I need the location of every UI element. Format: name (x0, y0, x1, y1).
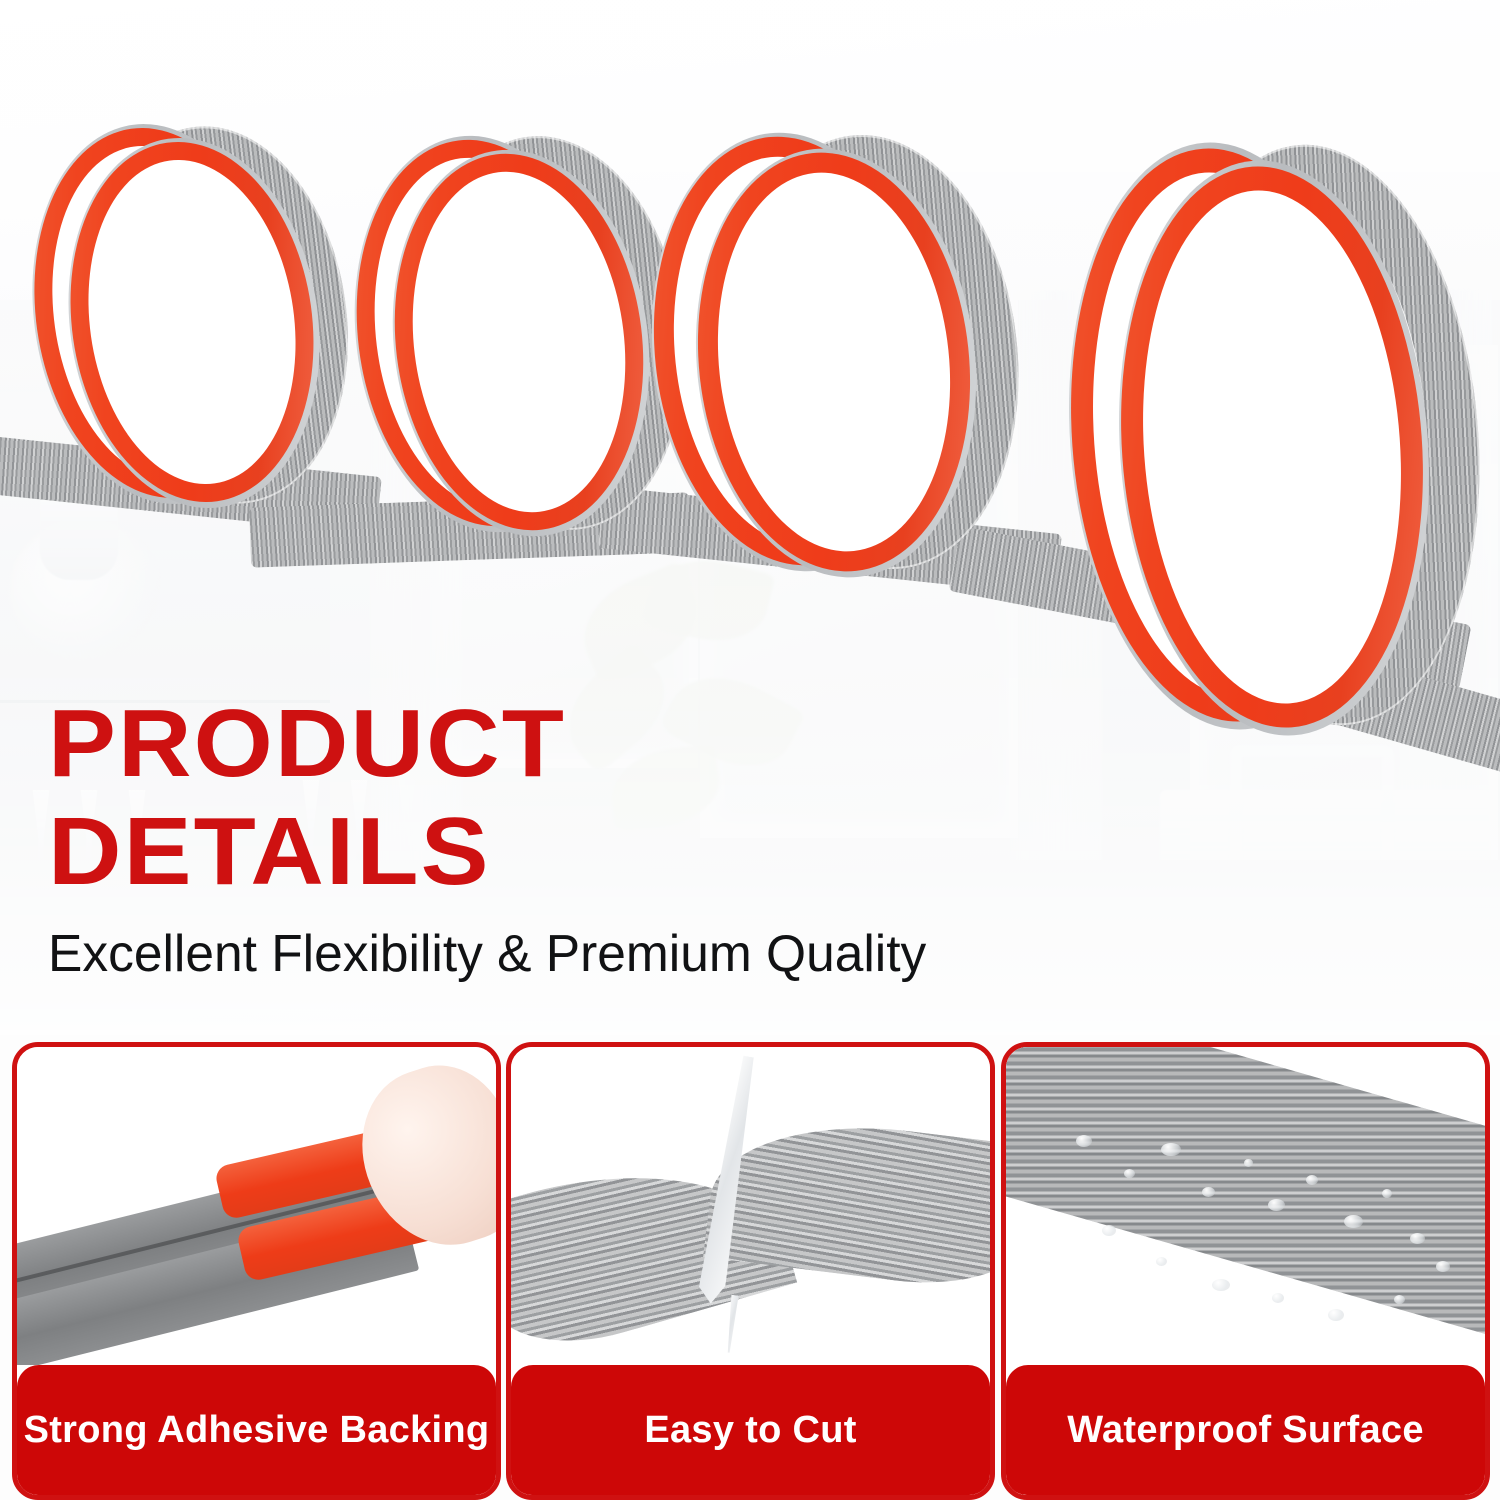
caption-label: Waterproof Surface (1067, 1409, 1424, 1452)
water-droplet (1156, 1257, 1167, 1266)
water-droplet (1344, 1215, 1363, 1228)
water-droplet (1212, 1279, 1230, 1291)
caption-label: Strong Adhesive Backing (24, 1409, 490, 1452)
water-droplet (1272, 1293, 1284, 1303)
water-droplet (1382, 1189, 1392, 1198)
tape-loop-1 (10, 115, 360, 515)
knife-tip (723, 1295, 741, 1354)
headline-line-1: PRODUCT (48, 690, 1246, 798)
headline-block: PRODUCT DETAILS Excellent Flexibility & … (48, 690, 1178, 984)
feature-caption-cut: Easy to Cut (511, 1365, 990, 1495)
water-droplet (1268, 1199, 1285, 1211)
feature-panel-cut[interactable]: Easy to Cut (506, 1042, 995, 1500)
headline-line-2: DETAILS (48, 798, 1246, 906)
water-droplet (1410, 1233, 1425, 1244)
feature-panel-row: Strong Adhesive Backing Easy to Cut (0, 1038, 1500, 1500)
water-droplet (1102, 1225, 1116, 1236)
product-detail-infographic: PRODUCT DETAILS Excellent Flexibility & … (0, 0, 1500, 1500)
water-droplet (1436, 1261, 1450, 1272)
water-droplet (1394, 1295, 1405, 1304)
water-droplet (1244, 1159, 1253, 1167)
tape-loop-3 (625, 120, 1025, 590)
adhesive-backing-photo (17, 1047, 496, 1365)
feature-caption-adhesive: Strong Adhesive Backing (17, 1365, 496, 1495)
caption-label: Easy to Cut (644, 1409, 856, 1452)
water-droplet (1306, 1175, 1318, 1185)
water-droplet (1202, 1187, 1215, 1197)
headline-subtitle: Excellent Flexibility & Premium Quality (48, 924, 1167, 984)
feature-panel-waterproof[interactable]: Waterproof Surface (1001, 1042, 1490, 1500)
waterproof-surface-photo (1006, 1047, 1485, 1365)
water-droplet (1328, 1309, 1344, 1321)
water-droplet (1076, 1135, 1092, 1147)
feature-panel-adhesive[interactable]: Strong Adhesive Backing (12, 1042, 501, 1500)
wet-grey-tape-surface (1006, 1047, 1485, 1349)
easy-to-cut-photo (511, 1047, 990, 1365)
water-droplet (1161, 1143, 1181, 1156)
feature-caption-waterproof: Waterproof Surface (1006, 1365, 1485, 1495)
hero-section: PRODUCT DETAILS Excellent Flexibility & … (0, 0, 1500, 1035)
water-droplet (1124, 1169, 1135, 1178)
tape-loop-4 (1040, 130, 1490, 760)
